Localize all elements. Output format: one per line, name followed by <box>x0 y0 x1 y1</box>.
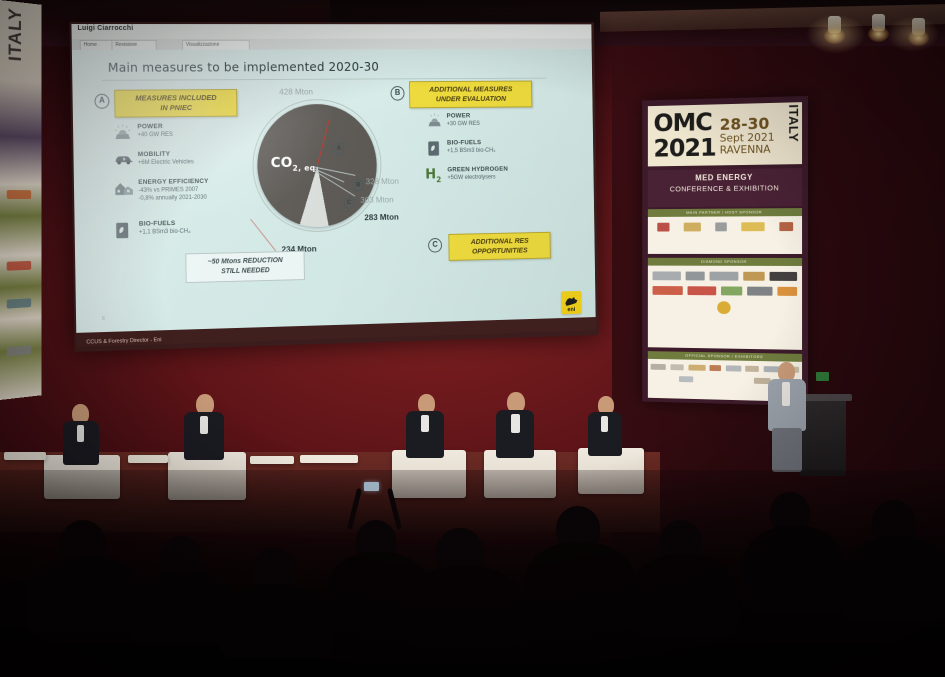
sponsor-logo-chip <box>7 345 31 356</box>
banner-additional-measures: ADDITIONAL MEASURES UNDER EVALUATION <box>409 81 532 109</box>
sponsor-logo <box>715 222 727 231</box>
sponsor-logo <box>670 364 683 370</box>
banner-additional-res: ADDITIONAL RES OPPORTUNITIES <box>448 232 550 261</box>
sponsor-logo <box>687 286 716 295</box>
track-light-icon <box>872 14 885 31</box>
sponsor-logo <box>652 271 680 280</box>
banner-b-line1: ADDITIONAL MEASURES <box>429 84 512 93</box>
omc-subtitle-block: MED ENERGY CONFERENCE & EXHIBITION <box>648 168 802 207</box>
eni-wordmark: eni <box>567 307 575 314</box>
audience-shoulders <box>842 536 945 620</box>
sponsor-logo <box>717 301 730 314</box>
pie-center-main: CO <box>271 155 293 171</box>
track-light-icon <box>912 18 925 35</box>
badge-b: B <box>390 86 404 101</box>
pie-step-b-value: 303 Mton <box>360 195 393 205</box>
eni-logo: eni <box>561 291 581 314</box>
panelist <box>494 392 548 458</box>
pie-center-sub: 2, eq <box>292 163 315 172</box>
panelist-shirt <box>421 415 429 432</box>
exit-sign <box>816 372 829 381</box>
reduction-callout: ~50 Mtons REDUCTION STILL NEEDED <box>185 251 305 283</box>
badge-c: C <box>428 238 442 253</box>
slide-page-number: 8 <box>102 316 105 322</box>
measure-detail: +5GW electrolysers <box>447 173 557 182</box>
audience-shoulders <box>524 542 636 630</box>
sponsor-logo <box>688 365 705 371</box>
measure-power-b: POWER +30 GW RES <box>426 112 545 128</box>
sponsor-logo <box>710 365 722 371</box>
sponsor-logo <box>778 287 798 296</box>
banner-a-line1: MEASURES INCLUDED <box>135 93 216 102</box>
projected-window: Luigi Ciarrocchi Home Revisione Visualiz… <box>71 24 595 347</box>
measure-detail: -43% vs PRIMES 2007 -0,8% annually 2021-… <box>138 185 269 203</box>
sponsor-logo <box>726 365 741 371</box>
speaker-shirt <box>782 382 790 406</box>
omc-banner: OMC 2021 28-30 Sept 2021 RAVENNA ITALY M… <box>642 96 808 406</box>
slide-footer-text: CCUS & Forestry Director - Eni <box>86 337 161 345</box>
sponsor-section-main: MAIN PARTNER / HOST SPONSOR <box>648 208 802 254</box>
panelist-shirt <box>77 425 84 442</box>
sponsor-logo-chip <box>7 261 31 271</box>
sponsor-logo <box>652 286 682 295</box>
left-banner-country: ITALY <box>6 7 26 62</box>
panelist <box>182 394 238 460</box>
biofuel-barrel-icon <box>114 221 134 239</box>
omc-city: RAVENNA <box>720 144 775 157</box>
measure-biofuels-a: BIO-FUELS +1,1 BSm3 bio-CH₄ <box>114 218 260 237</box>
measure-detail: +6M Electric Vehicles <box>138 158 259 168</box>
omc-country: ITALY <box>786 102 802 164</box>
sponsor-section-diamond: DIAMOND SPONSOR <box>648 258 802 350</box>
omc-year: 2021 <box>653 135 715 162</box>
banner-measures-pniec: MEASURES INCLUDED IN PNIEC <box>114 89 237 118</box>
solar-panel-icon <box>113 123 133 141</box>
banner-c-line2: OPPORTUNITIES <box>472 246 528 256</box>
audience-shoulders <box>404 566 524 646</box>
projection-screen: Luigi Ciarrocchi Home Revisione Visualiz… <box>69 22 598 352</box>
sponsor-logo <box>657 223 669 232</box>
panelist-shirt <box>601 416 608 432</box>
omc-dates-block: 28-30 Sept 2021 RAVENNA <box>716 112 777 157</box>
co2-pie-chart: CO2, eq <box>256 104 377 229</box>
banner-b-line2: UNDER EVALUATION <box>436 94 506 103</box>
sponsor-logo-chip <box>7 298 31 308</box>
side-table <box>300 455 358 463</box>
pie-step-a-value: 328 Mton <box>366 176 399 186</box>
side-table <box>250 456 294 464</box>
house-efficiency-icon <box>114 179 134 197</box>
pie-center-label: CO2, eq <box>271 155 316 173</box>
omc-brand-block: OMC 2021 28-30 Sept 2021 RAVENNA <box>648 103 786 167</box>
sponsor-logo <box>709 272 738 281</box>
measure-detail: +30 GW RES <box>447 120 546 129</box>
audience-phone <box>364 482 379 491</box>
window-title: Luigi Ciarrocchi <box>77 25 133 32</box>
measure-detail: +1,1 BSm3 bio-CH₄ <box>139 226 260 236</box>
slide-title: Main measures to be implemented 2020-30 <box>108 59 379 75</box>
omc-banner-header: OMC 2021 28-30 Sept 2021 RAVENNA ITALY <box>648 102 802 166</box>
audience-shoulders <box>630 554 738 636</box>
sponsor-logo <box>746 366 760 372</box>
measure-mobility-a: MOBILITY +6M Electric Vehicles <box>113 150 259 168</box>
window-title-bar: Luigi Ciarrocchi <box>71 24 591 40</box>
sponsor-logo-grid <box>648 216 802 237</box>
speaker-legs <box>772 428 802 472</box>
conference-photo: ITALY Luigi Ciarrocchi Home Revisione Vi… <box>0 0 945 677</box>
measure-biofuels-b: BIO-FUELS +1,5 BSm3 bio-CH₄ <box>427 138 555 155</box>
side-table <box>128 455 168 463</box>
biofuel-barrel-icon <box>427 140 446 158</box>
sponsor-logo <box>741 222 764 231</box>
audience-shoulders <box>28 556 144 632</box>
side-table <box>4 452 46 460</box>
badge-a: A <box>94 94 109 109</box>
sponsor-logo-chip <box>7 190 31 199</box>
measure-title: BIO-FUELS <box>447 138 555 146</box>
sponsor-logo <box>679 376 693 382</box>
panelist <box>586 396 636 456</box>
banner-c-line1: ADDITIONAL RES <box>471 236 529 246</box>
measure-title: POWER <box>137 122 249 130</box>
audience-shoulders <box>220 584 332 658</box>
pie-total-label: 428 Mton <box>279 87 313 97</box>
panelist-shirt <box>511 414 520 433</box>
measure-detail: +1,5 BSm3 bio-CH₄ <box>447 146 555 155</box>
podium-speaker <box>766 362 812 472</box>
sponsor-logo <box>770 272 798 281</box>
presentation-slide: Main measures to be implemented 2020-30 … <box>72 49 596 333</box>
measure-hydrogen-b: H2 GREEN HYDROGEN +5GW electrolysers <box>425 165 558 182</box>
left-sponsor-banner: ITALY <box>0 0 41 400</box>
hydrogen-icon: H2 <box>425 167 444 185</box>
sponsor-logo <box>721 286 742 295</box>
panelist-shirt <box>200 416 208 434</box>
pie-step-c-value: 283 Mton <box>364 212 399 222</box>
solar-panel-icon <box>426 113 445 131</box>
measure-detail: +40 GW RES <box>137 130 249 139</box>
electric-car-icon <box>113 151 133 169</box>
measure-title: POWER <box>446 112 545 120</box>
panelist <box>60 404 112 464</box>
pie-marker-b: B <box>353 179 364 191</box>
track-light-icon <box>828 16 841 33</box>
omc-subtitle-1: MED ENERGY <box>648 172 802 183</box>
omc-subtitle-2: CONFERENCE & EXHIBITION <box>648 183 802 194</box>
pie-marker-a: A <box>333 143 344 155</box>
sponsor-logo <box>683 223 700 232</box>
banner-a-line2: IN PNIEC <box>160 103 192 112</box>
measure-energy-efficiency-a: ENERGY EFFICIENCY -43% vs PRIMES 2007 -0… <box>114 177 270 203</box>
panelist <box>404 394 458 458</box>
sponsor-logo <box>651 364 666 370</box>
sponsor-logo <box>747 287 772 296</box>
sponsor-logo <box>743 272 764 281</box>
sponsor-logo-grid <box>648 266 802 321</box>
eni-dog-icon <box>564 296 578 308</box>
measure-power-a: POWER +40 GW RES <box>113 122 250 139</box>
audience-shoulders <box>742 526 846 612</box>
sponsor-logo <box>685 272 704 281</box>
sponsor-logo <box>779 222 793 231</box>
